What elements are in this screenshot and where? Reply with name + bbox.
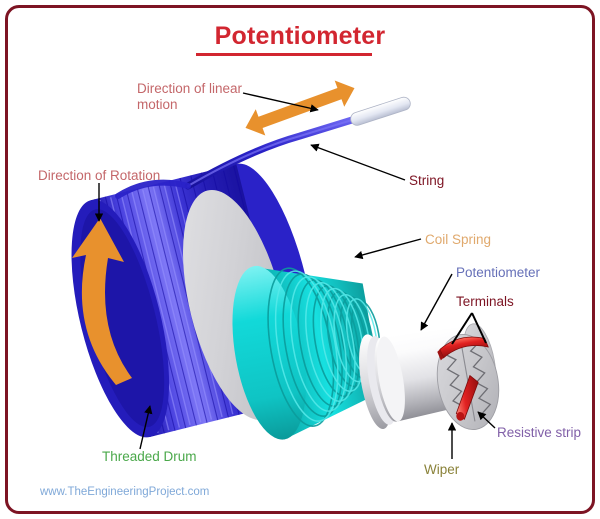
- label-potentiometer: Potentiometer: [456, 265, 540, 281]
- label-coil-spring: Coil Spring: [425, 232, 491, 248]
- leader-line-pot: [421, 274, 452, 330]
- label-wiper: Wiper: [424, 462, 459, 478]
- label-string: String: [409, 173, 444, 189]
- label-terminals: Terminals: [456, 294, 514, 310]
- leader-line-coil: [355, 239, 421, 257]
- website-watermark: www.TheEngineeringProject.com: [40, 485, 209, 499]
- label-direction-of-linear-motion: Direction of linear motion: [137, 81, 242, 114]
- label-threaded-drum: Threaded Drum: [102, 449, 197, 465]
- label-resistive-strip: Resistive strip: [497, 425, 581, 441]
- label-direction-of-rotation: Direction of Rotation: [38, 168, 160, 184]
- leader-line-string: [311, 145, 405, 180]
- diagram-frame: Potentiometer: [0, 0, 600, 519]
- linear-motion-arrow: [241, 75, 360, 141]
